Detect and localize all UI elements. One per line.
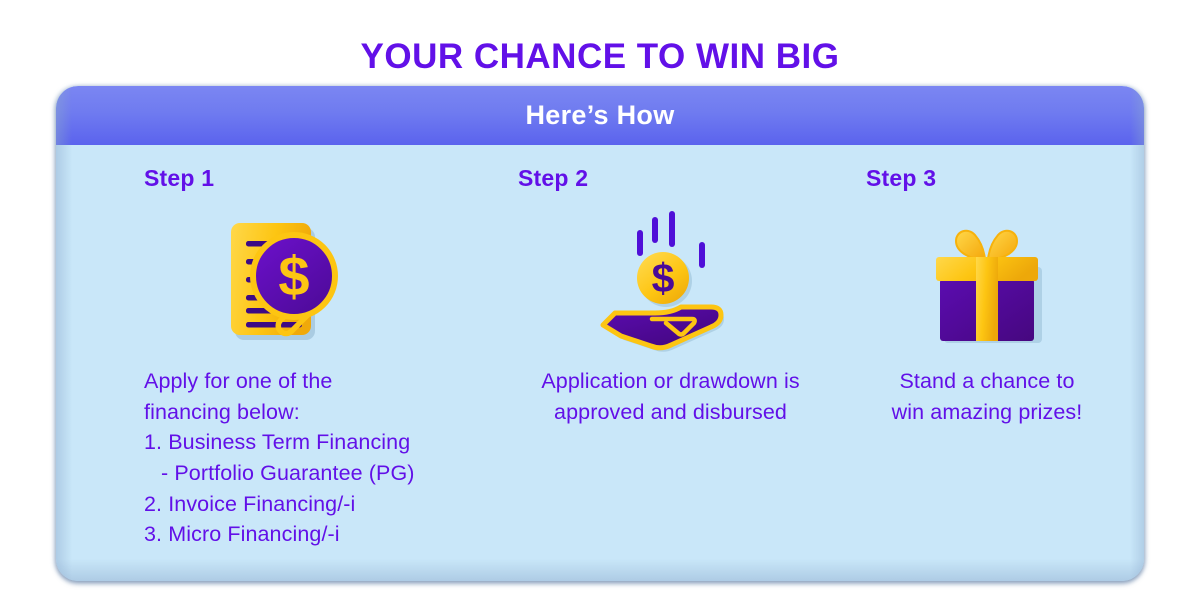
card-header: Here’s How (56, 86, 1144, 145)
hand-coin-dollar-icon: $ (596, 207, 746, 357)
svg-text:$: $ (651, 255, 674, 301)
step-3-column: Step 3 (841, 145, 1114, 581)
step-2-icon-wrap: $ (518, 198, 841, 366)
step-3-icon-wrap (866, 198, 1114, 366)
step-1-line-5: 2. Invoice Financing/-i (144, 489, 491, 520)
step-1-icon-wrap: $ (144, 198, 491, 366)
step-2-line-1: Application or drawdown is (518, 366, 823, 397)
card-header-title: Here’s How (525, 102, 674, 129)
step-1-line-6: 3. Micro Financing/-i (144, 519, 491, 550)
step-1-label: Step 1 (144, 167, 491, 190)
gift-box-icon (928, 219, 1046, 345)
step-3-text: Stand a chance to win amazing prizes! (866, 366, 1114, 427)
steps-row: Step 1 (56, 145, 1144, 581)
step-1-line-2: financing below: (144, 397, 491, 428)
step-1-text: Apply for one of the financing below: 1.… (144, 366, 491, 549)
step-2-line-2: approved and disbursed (518, 397, 823, 428)
step-1-line-1: Apply for one of the (144, 366, 491, 397)
step-3-line-1: Stand a chance to (866, 366, 1108, 397)
step-1-line-4: - Portfolio Guarantee (PG) (144, 458, 415, 489)
here-is-how-card: Here’s How Step 1 (56, 86, 1144, 581)
svg-text:$: $ (278, 245, 309, 308)
step-3-label: Step 3 (866, 167, 1114, 190)
document-magnifier-dollar-icon: $ (222, 214, 354, 350)
step-2-column: Step 2 (491, 145, 841, 581)
step-1-line-3: 1. Business Term Financing (144, 427, 491, 458)
step-2-label: Step 2 (518, 167, 841, 190)
page-title: YOUR CHANCE TO WIN BIG (0, 23, 1200, 74)
step-3-line-2: win amazing prizes! (866, 397, 1108, 428)
step-1-column: Step 1 (86, 145, 491, 581)
step-2-text: Application or drawdown is approved and … (518, 366, 841, 427)
